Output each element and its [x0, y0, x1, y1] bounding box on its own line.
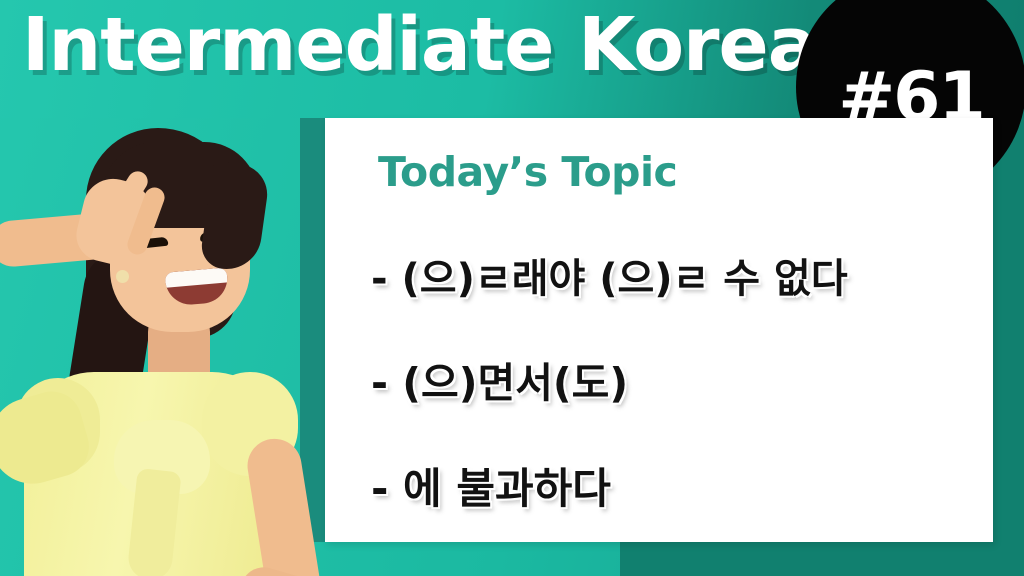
earring — [116, 270, 129, 283]
card-heading: Today’s Topic — [378, 148, 677, 196]
topic-list: - (으)ㄹ래야 (으)ㄹ 수 없다 - (으)면서(도) - 에 불과하다 — [371, 226, 991, 541]
topic-item: - 에 불과하다 — [371, 436, 991, 541]
topic-item: - (으)ㄹ래야 (으)ㄹ 수 없다 — [371, 226, 991, 331]
topic-card: Today’s Topic - (으)ㄹ래야 (으)ㄹ 수 없다 - (으)면서… — [325, 118, 993, 542]
thumbnail-canvas: Intermediate Korean #61 Today’s Topic - … — [0, 0, 1024, 576]
presenter-photo — [0, 120, 320, 576]
topic-item: - (으)면서(도) — [371, 331, 991, 436]
page-title: Intermediate Korean — [22, 6, 868, 86]
